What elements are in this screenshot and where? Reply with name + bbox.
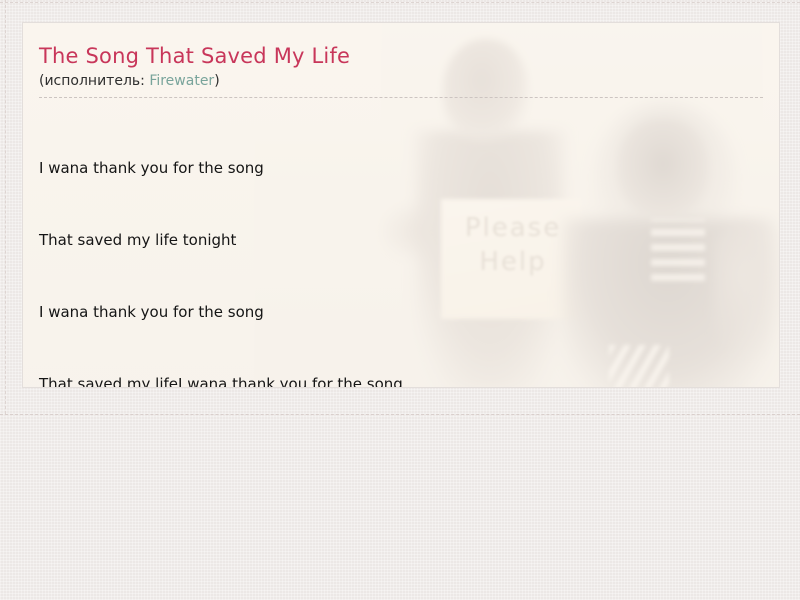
lyrics-card: Please Help The Song That Saved My Life … [22, 22, 780, 388]
lyric-line: I wana thank you for the song [39, 300, 763, 324]
page-frame-left-rule [5, 0, 6, 414]
page-frame-top-rule [0, 2, 800, 3]
lyric-line: I wana thank you for the song [39, 156, 763, 180]
artist-byline: (исполнитель: Firewater) [39, 71, 763, 98]
artist-suffix-label: ) [214, 73, 219, 89]
page-frame-bottom-rule [0, 414, 800, 415]
lyric-line: That saved my lifeI wana thank you for t… [39, 372, 763, 388]
lyric-line: That saved my life tonight [39, 228, 763, 252]
card-content: The Song That Saved My Life (исполнитель… [23, 23, 779, 388]
artist-link[interactable]: Firewater [149, 73, 214, 89]
artist-prefix-label: (исполнитель: [39, 73, 149, 89]
lyrics-body: I wana thank you for the song That saved… [39, 98, 763, 388]
page-title: The Song That Saved My Life [39, 43, 763, 69]
